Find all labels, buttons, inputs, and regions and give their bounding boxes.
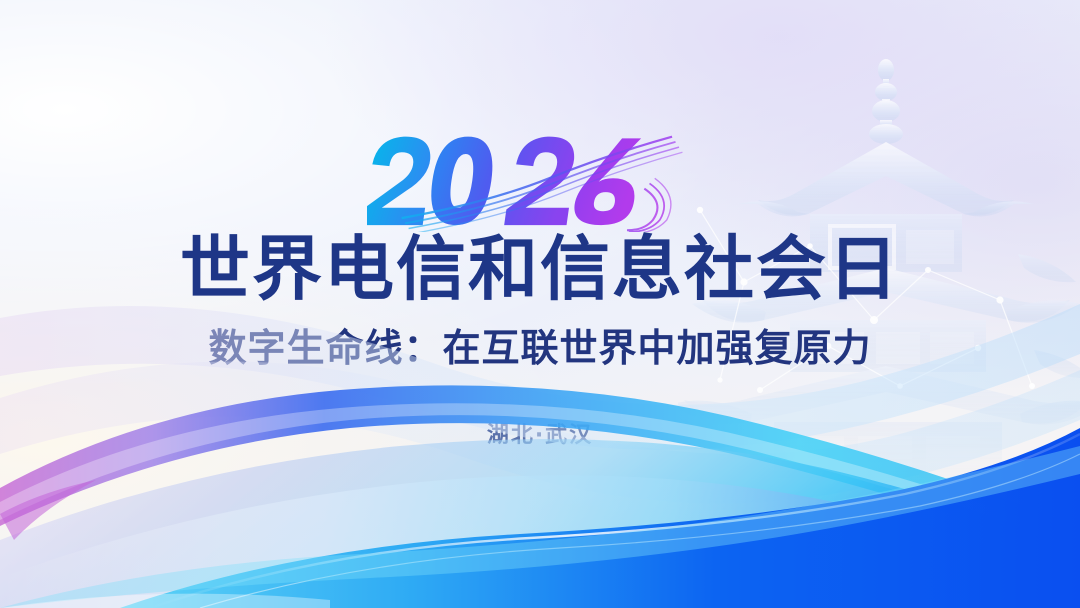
poster-canvas: 世界电信和信息社会日 数字生命线：在互联世界中加强复原力 湖北·武汉 (0, 0, 1080, 608)
year-2026-logo (0, 128, 1080, 232)
wave-ribbons-decoration (0, 278, 1080, 608)
